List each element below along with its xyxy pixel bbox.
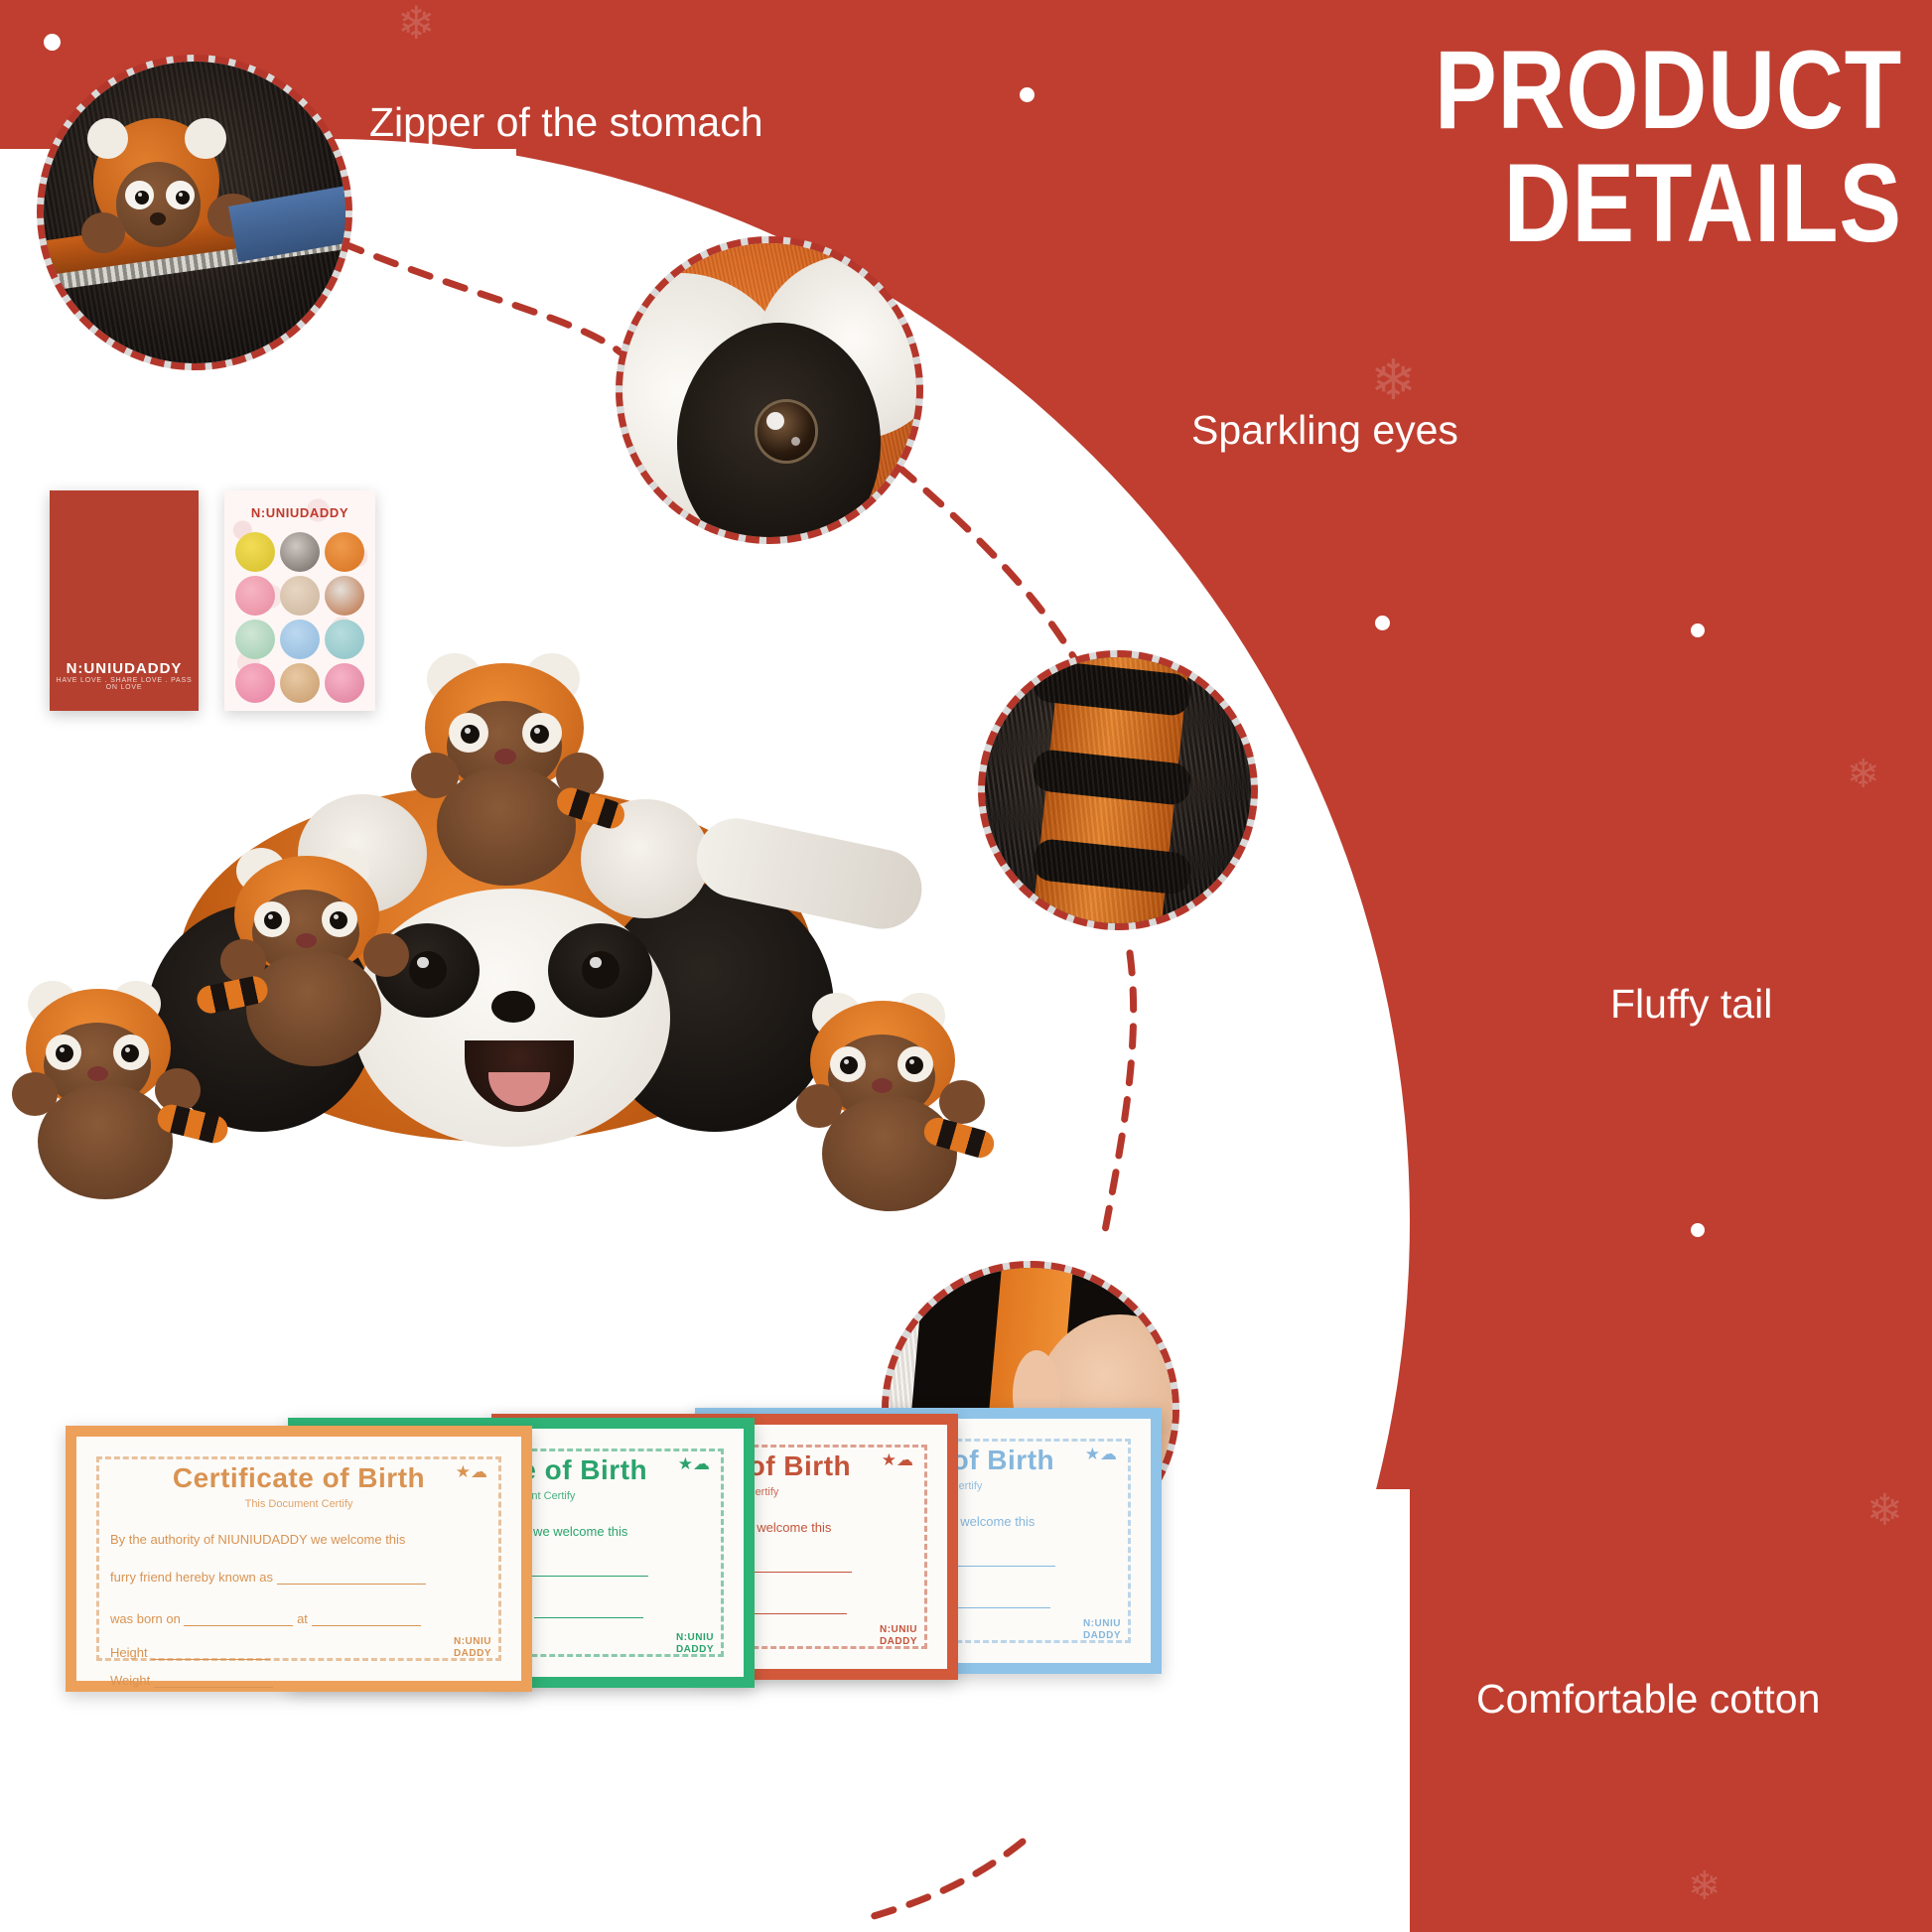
certificate-stamp: N:UNIU DADDY [1083,1618,1121,1641]
plush-small-top-nose [494,749,516,764]
plush-small-top-paw-l [411,753,459,798]
tail-photo [978,650,1258,930]
dot-decoration [1020,87,1035,102]
plush-small-top-body [437,766,576,886]
certificate-at-label: at [297,1611,308,1626]
certificate-stamp: N:UNIU DADDY [880,1624,917,1647]
plush-small-left-eye-r [330,911,347,929]
plush-small-top-eye-l [461,725,480,744]
star-cloud-icon: ★☁ [678,1454,710,1474]
detail-bubble-fluffy-tail [978,650,1258,930]
star-cloud-icon: ★☁ [456,1462,487,1482]
plush-small-top-eye-r [530,725,549,744]
certificate-stamp: N:UNIU DADDY [676,1632,714,1655]
sticker-brown-white-dog [325,576,364,616]
certificate-stamp-line2: DADDY [1083,1630,1121,1642]
certificate-height-blank [151,1659,270,1660]
certificate-stamp-line2: DADDY [880,1636,917,1648]
dot-decoration [1114,494,1129,509]
dot-decoration [44,34,61,51]
page-title-line2: DETAILS [1169,147,1902,260]
certificate-name-blank [277,1584,426,1585]
certificate-orange-page: Certificate of Birth This Document Certi… [76,1437,521,1681]
plush-group-photo [0,635,993,1430]
sticker-sheet-brand: N:UNIUDADDY [224,505,375,520]
detail-bubble-zipper [37,55,352,370]
sticker-yellow-giraffe-pillow [235,532,275,572]
certificate-name-label: furry friend hereby known as [110,1570,273,1585]
plush-small-right-paw-l [796,1084,842,1128]
certificate-born-label: was born on [110,1611,181,1626]
plush-small-left-paw-r [363,933,409,977]
certificate-at-blank [534,1617,643,1618]
certificate-stamp-line2: DADDY [454,1648,491,1660]
product-details-infographic: ❄ ❄ ❄ ❄ ❄ ❄ PRODUCT DETAILS Zipper of th… [0,0,1932,1932]
certificate-at-blank [312,1625,421,1626]
certificate-subtitle: This Document Certify [76,1498,521,1510]
plush-small-farleft-nose [87,1066,108,1081]
star-cloud-icon: ★☁ [882,1450,913,1470]
dot-decoration [1691,623,1705,637]
plush-small-right-eye-r [905,1056,923,1074]
snowflake-decoration: ❄ [1688,1866,1722,1906]
feature-label-zipper: Zipper of the stomach [369,99,763,146]
sticker-grey-pink-cat-pair [280,532,320,572]
plush-small-right-nose [872,1078,893,1093]
certificate-born-blank [184,1625,293,1626]
certificate-orange: Certificate of Birth This Document Certi… [66,1426,532,1692]
certificate-stamp-line1: N:UNIU [1083,1618,1121,1630]
certificate-line-weight: Weight [110,1673,273,1688]
feature-label-eyes: Sparkling eyes [1191,407,1458,454]
certificate-line-height: Height [110,1645,270,1660]
detail-bubble-sparkling-eyes [616,236,923,544]
certificate-stamp-line1: N:UNIU [676,1632,714,1644]
sticker-pink-axolotl [235,576,275,616]
certificate-line-authority: By the authority of NIUNIUDADDY we welco… [110,1532,405,1547]
plush-big-left-eye [409,951,447,989]
snowflake-decoration: ❄ [1847,755,1880,794]
snowflake-decoration: ❄ [1251,1281,1303,1342]
page-title: PRODUCT DETAILS [1169,34,1902,260]
plush-small-farleft-eye-l [56,1044,73,1062]
certificate-weight-blank [154,1687,273,1688]
snowflake-decoration: ❄ [1866,1489,1903,1533]
plush-big-right-eye [582,951,620,989]
dot-decoration [1691,1223,1705,1237]
plush-small-right-paw-r [939,1080,985,1124]
feature-label-tail: Fluffy tail [1610,981,1772,1028]
plush-small-farleft-paw-l [12,1072,58,1116]
page-title-line1: PRODUCT [1435,28,1902,152]
snowflake-decoration: ❄ [1370,352,1417,408]
plush-small-left-eye-l [264,911,282,929]
snowflake-decoration: ❄ [397,0,436,46]
zipper-photo [37,55,352,370]
certificate-height-label: Height [110,1645,148,1660]
plush-small-right-body [822,1096,957,1211]
sticker-beige-bunny [280,576,320,616]
plush-small-farleft-body [38,1084,173,1199]
plush-small-left-body [246,951,381,1066]
plush-big-nose [491,991,535,1023]
dot-decoration [1375,616,1390,630]
sticker-orange-fox [325,532,364,572]
feature-label-cotton: Comfortable cotton [1476,1676,1820,1723]
certificate-stamp-line1: N:UNIU [880,1624,917,1636]
certificate-stamp-line2: DADDY [676,1644,714,1656]
certificate-stamp: N:UNIU DADDY [454,1636,491,1659]
plush-small-left-nose [296,933,317,948]
certificate-weight-label: Weight [110,1673,150,1688]
plush-small-right-eye-l [840,1056,858,1074]
certificate-line-born: was born on at [110,1611,421,1626]
eye-photo [616,236,923,544]
plush-small-farleft-eye-r [121,1044,139,1062]
certificate-line-name: furry friend hereby known as [110,1570,426,1585]
certificate-stamp-line1: N:UNIU [454,1636,491,1648]
star-cloud-icon: ★☁ [1085,1445,1117,1464]
